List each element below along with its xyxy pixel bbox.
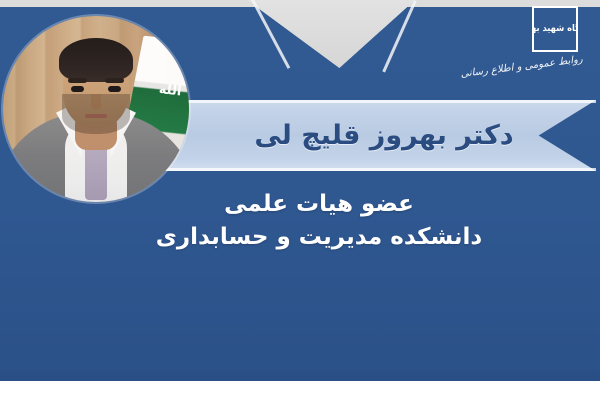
logo-square-text: دانشگاه شهید بهشتی	[532, 24, 578, 34]
portrait-avatar: الله	[3, 16, 189, 202]
panel-bottom-band	[0, 371, 600, 381]
person-eyebrow-left	[68, 78, 87, 83]
person-eyebrow-right	[105, 78, 124, 83]
flag-emblem-text: الله	[134, 80, 182, 107]
person-eye-right	[108, 86, 121, 92]
person-eye-left	[71, 86, 84, 92]
logo-calligraphy-text: روابط عمومی و اطلاع رسانی	[469, 54, 584, 80]
person-nose	[91, 94, 101, 110]
portrait-photo: الله	[3, 16, 189, 202]
logo-square-emblem: دانشگاه شهید بهشتی	[532, 6, 578, 52]
subtitle-line-2: دانشکده مدیریت و حسابداری	[104, 221, 534, 254]
name-ribbon: دکتر بهروز قلیچ لی	[118, 100, 596, 171]
person-hair	[59, 38, 133, 82]
person-name: دکتر بهروز قلیچ لی	[118, 100, 596, 171]
profile-banner-canvas: دانشگاه شهید بهشتی روابط عمومی و اطلاع ر…	[0, 0, 600, 400]
university-logo: دانشگاه شهید بهشتی روابط عمومی و اطلاع ر…	[466, 4, 584, 96]
person-mouth	[85, 114, 107, 118]
